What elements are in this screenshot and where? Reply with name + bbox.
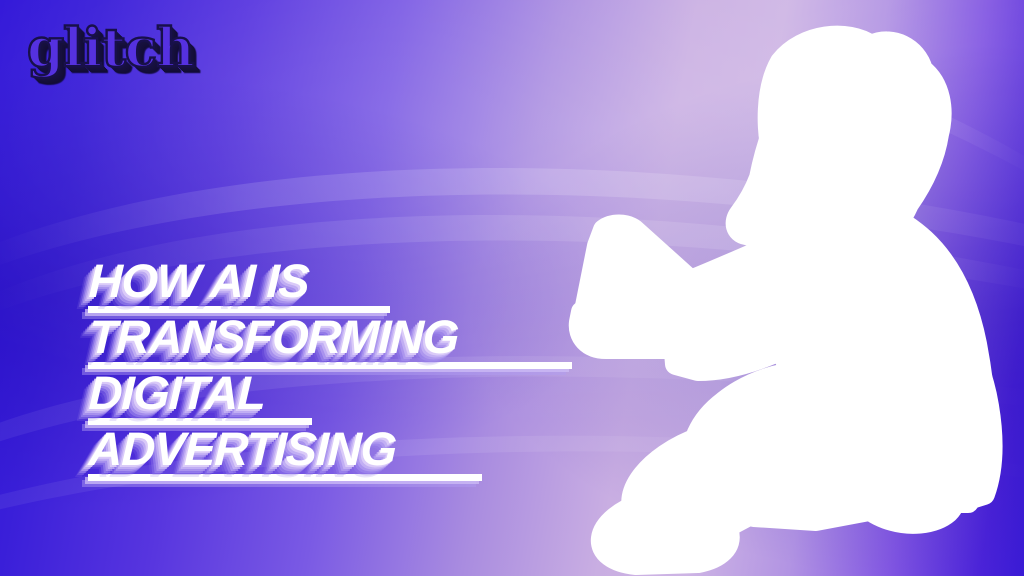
poster-canvas: glitch HOW AI IS TRANSFORMING DIGITAL AD… xyxy=(0,0,1024,576)
brand-logo[interactable]: glitch xyxy=(27,22,194,75)
headline-rule-4 xyxy=(88,474,482,481)
person-with-laptop-cutout xyxy=(548,18,1024,576)
sticker-outline xyxy=(580,37,992,564)
